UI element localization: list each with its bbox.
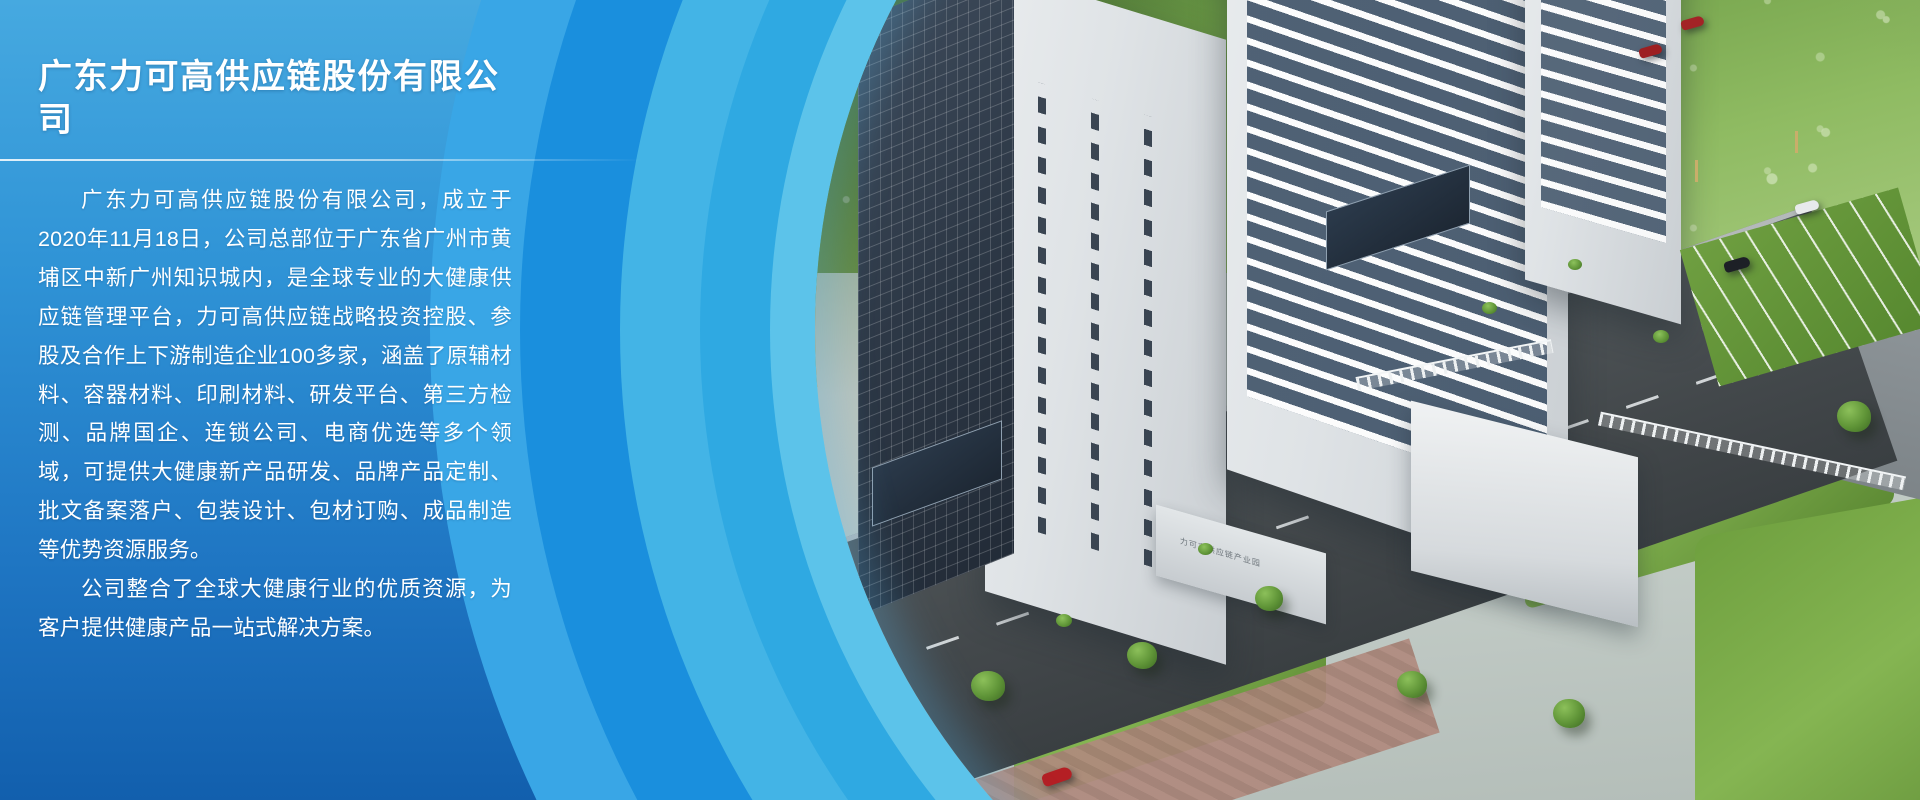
wing-window-bands [1541, 0, 1666, 242]
street-tree-5 [1553, 699, 1585, 728]
tower-window-slits-a [1038, 83, 1046, 535]
company-description: 广东力可高供应链股份有限公司，成立于2020年11月18日，公司总部位于广东省广… [38, 161, 512, 648]
tower-window-slits-b [1092, 99, 1100, 551]
shrub-5 [1653, 330, 1669, 343]
street-lamp-b [1795, 131, 1798, 153]
street-tree-1 [971, 671, 1005, 701]
company-profile-banner: 力可高供应链产业园 [0, 0, 1920, 800]
campus-sign-text: 力可高供应链产业园 [1180, 535, 1261, 569]
page-title: 广东力可高供应链股份有限公司 [38, 0, 532, 141]
campus-photo-disc: 力可高供应链产业园 [815, 0, 1920, 800]
street-tree-3 [1255, 586, 1283, 611]
campus-aerial-rendering: 力可高供应链产业园 [815, 0, 1920, 800]
street-tree-2 [1127, 642, 1157, 669]
shrub-3 [1482, 302, 1497, 314]
description-paragraph-2: 公司整合了全球大健康行业的优质资源，为客户提供健康产品一站式解决方案。 [38, 570, 512, 648]
street-tree-4 [1397, 671, 1427, 698]
tower-window-slits-c [1145, 115, 1153, 567]
street-lamp-a [1695, 160, 1698, 182]
lot-tree-1 [1837, 401, 1871, 432]
shrub-4 [1568, 259, 1582, 270]
tower-glass-mullions [858, 0, 1014, 617]
text-column: 广东力可高供应链股份有限公司 广东力可高供应链股份有限公司，成立于2020年11… [0, 0, 560, 800]
office-tower-glass-facade [858, 0, 1014, 617]
description-paragraph-1: 广东力可高供应链股份有限公司，成立于2020年11月18日，公司总部位于广东省广… [38, 181, 512, 570]
